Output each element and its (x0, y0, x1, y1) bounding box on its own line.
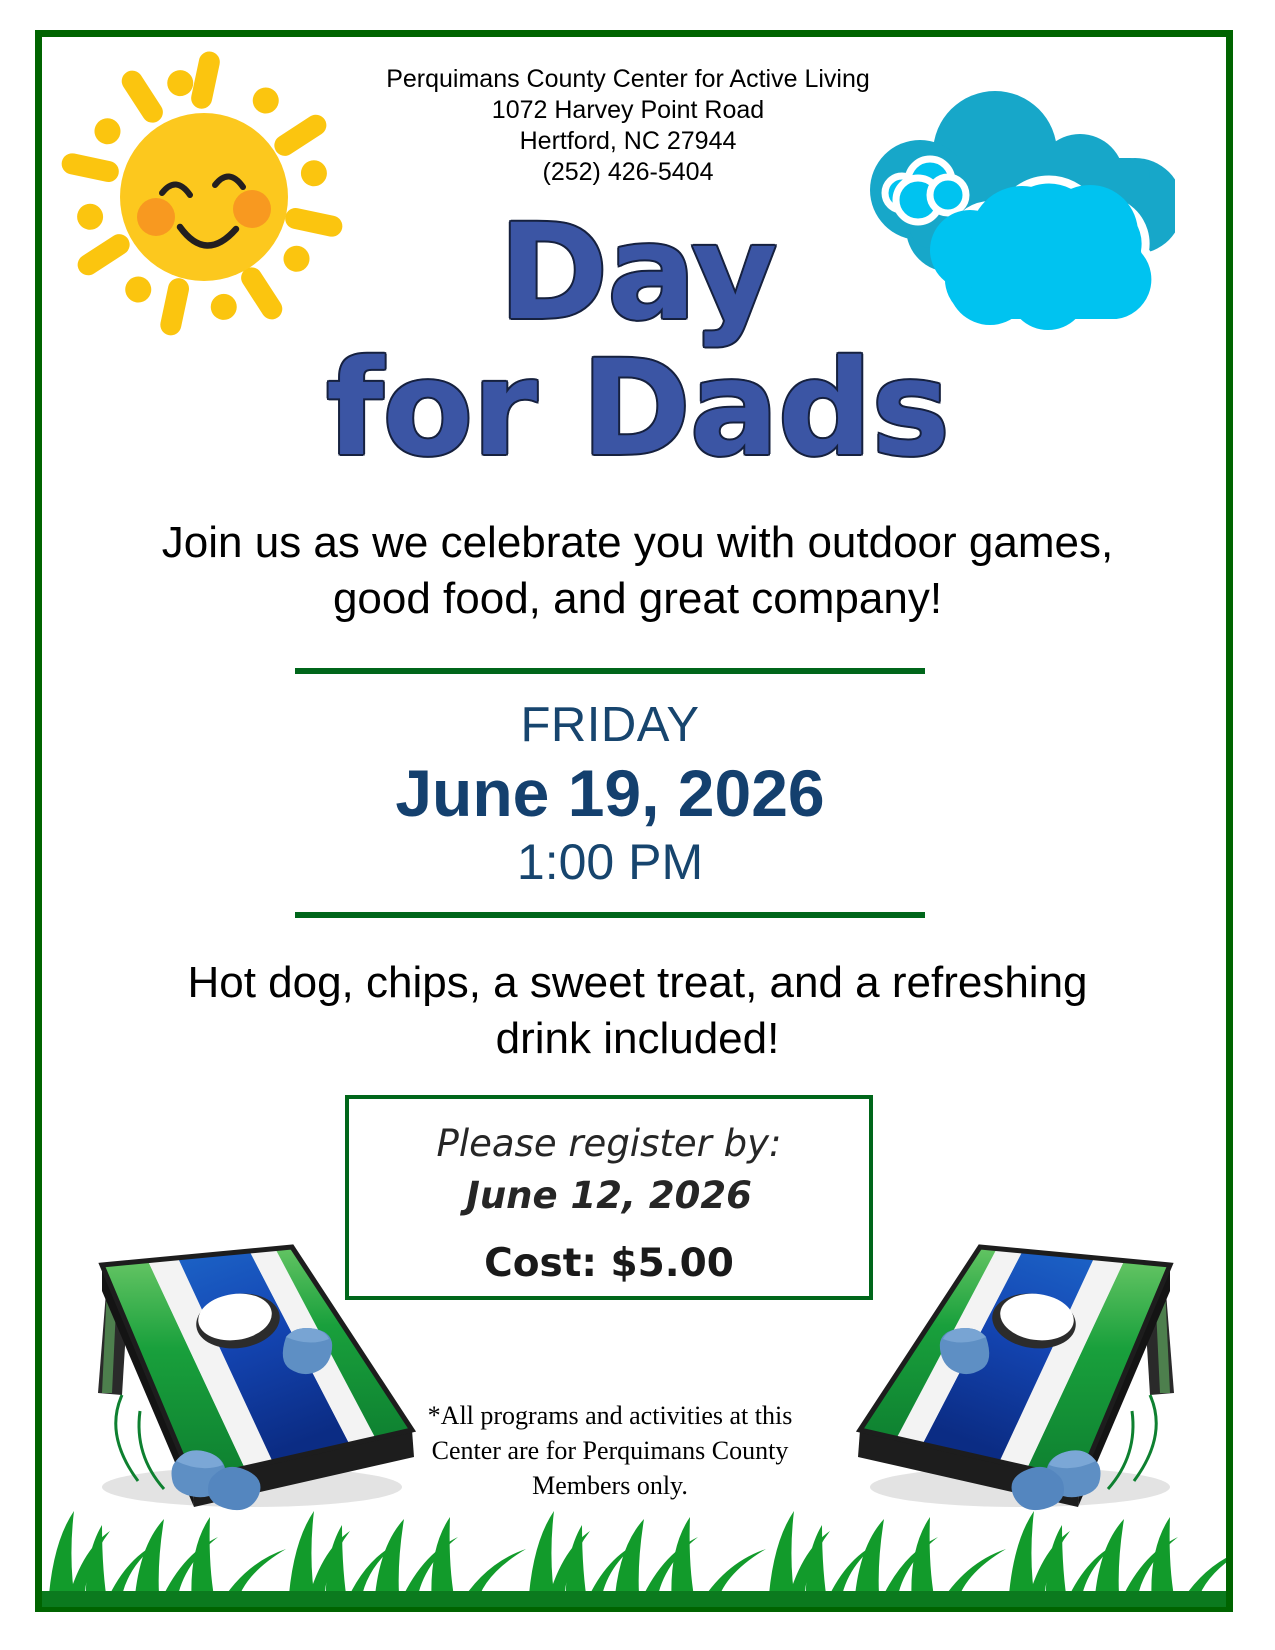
meal-text: Hot dog, chips, a sweet treat, and a ref… (180, 955, 1095, 1067)
intro-text: Join us as we celebrate you with outdoor… (150, 515, 1125, 627)
venue-block: Perquimans County Center for Active Livi… (318, 64, 938, 188)
sun-icon (52, 45, 352, 345)
flyer-page: Perquimans County Center for Active Livi… (0, 0, 1275, 1650)
event-time: 1:00 PM (295, 832, 925, 892)
venue-name: Perquimans County Center for Active Livi… (318, 64, 938, 95)
venue-city-state-zip: Hertford, NC 27944 (318, 126, 938, 157)
event-day-name: FRIDAY (295, 696, 925, 754)
venue-street: 1072 Harvey Point Road (318, 95, 938, 126)
grass-icon (42, 1455, 1226, 1607)
event-date: June 19, 2026 (295, 754, 925, 832)
venue-phone: (252) 426-5404 (318, 157, 938, 188)
divider-bottom (295, 912, 925, 918)
event-details: FRIDAY June 19, 2026 1:00 PM (295, 668, 925, 918)
divider-top (295, 668, 925, 674)
register-deadline: June 12, 2026 (349, 1173, 869, 1219)
register-label: Please register by: (349, 1121, 869, 1167)
